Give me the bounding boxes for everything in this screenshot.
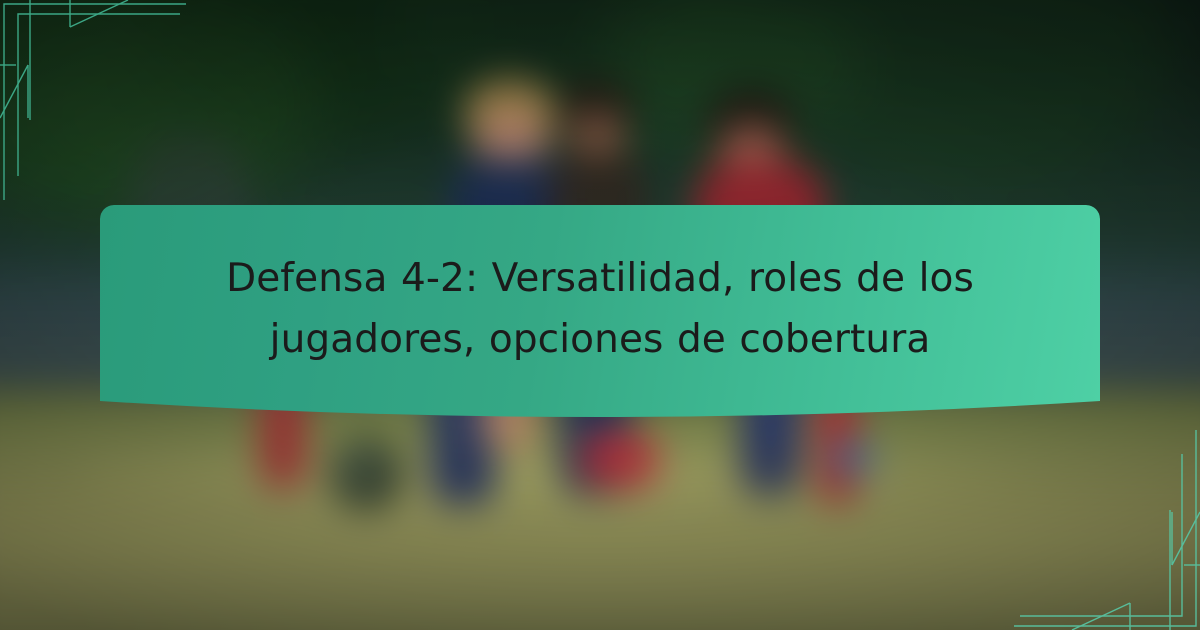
share-card: Defensa 4-2: Versatilidad, roles de los … <box>0 0 1200 630</box>
page-title: Defensa 4-2: Versatilidad, roles de los … <box>170 249 1030 370</box>
headline-banner: Defensa 4-2: Versatilidad, roles de los … <box>100 205 1100 420</box>
